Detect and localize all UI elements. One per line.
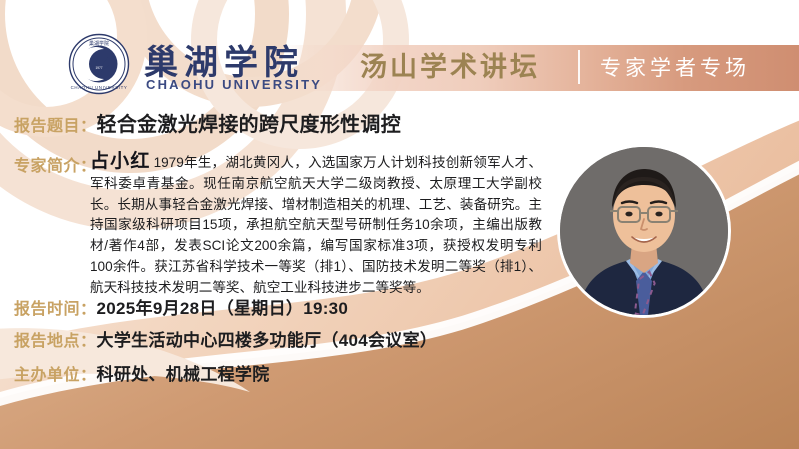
speaker-bio-row: 专家简介： [14, 152, 97, 176]
report-time-label: 报告时间： [14, 301, 97, 318]
poster-canvas: 巢湖学院 CHAOHU UNIVERSITY 1977 巢湖学院 CHAOHU … [0, 0, 799, 449]
speaker-name: 占小红 [90, 151, 151, 172]
speaker-bio-body: 占小红1979年生，湖北黄冈人，入选国家万人计划科技创新领军人才、军科委卓青基金… [90, 152, 542, 299]
report-title-value: 轻合金激光焊接的跨尺度形性调控 [97, 114, 402, 136]
speaker-portrait [560, 147, 728, 315]
report-title-row: 报告题目：轻合金激光焊接的跨尺度形性调控 [14, 108, 401, 137]
report-time-value: 2025年9月28日（星期日）19:30 [97, 299, 349, 318]
svg-text:CHAOHU UNIVERSITY: CHAOHU UNIVERSITY [71, 85, 128, 90]
chaohu-university-emblem-icon: 巢湖学院 CHAOHU UNIVERSITY 1977 [68, 33, 130, 95]
brand-logo: 巢湖学院 CHAOHU UNIVERSITY 1977 巢湖学院 CHAOHU … [68, 33, 358, 95]
banner-divider [578, 50, 580, 84]
speaker-bio-label: 专家简介： [14, 158, 97, 175]
report-title-label: 报告题目： [14, 118, 97, 135]
svg-text:1977: 1977 [95, 66, 102, 70]
brand-name-en: CHAOHU UNIVERSITY [146, 77, 322, 92]
report-time-row: 报告时间：2025年9月28日（星期日）19:30 [14, 294, 348, 319]
svg-text:巢湖学院: 巢湖学院 [89, 40, 109, 47]
report-host-label: 主办单位： [14, 367, 97, 384]
report-place-value: 大学生活动中心四楼多功能厅（404会议室） [97, 331, 438, 350]
banner-subtitle: 专家学者专场 [600, 53, 750, 83]
report-place-row: 报告地点：大学生活动中心四楼多功能厅（404会议室） [14, 326, 437, 351]
report-place-label: 报告地点： [14, 333, 97, 350]
report-host-value: 科研处、机械工程学院 [97, 365, 270, 384]
speaker-bio-text: 1979年生，湖北黄冈人，入选国家万人计划科技创新领军人才、军科委卓青基金。现任… [90, 155, 542, 295]
banner-title: 汤山学术讲坛 [360, 50, 540, 86]
report-host-row: 主办单位：科研处、机械工程学院 [14, 360, 270, 385]
